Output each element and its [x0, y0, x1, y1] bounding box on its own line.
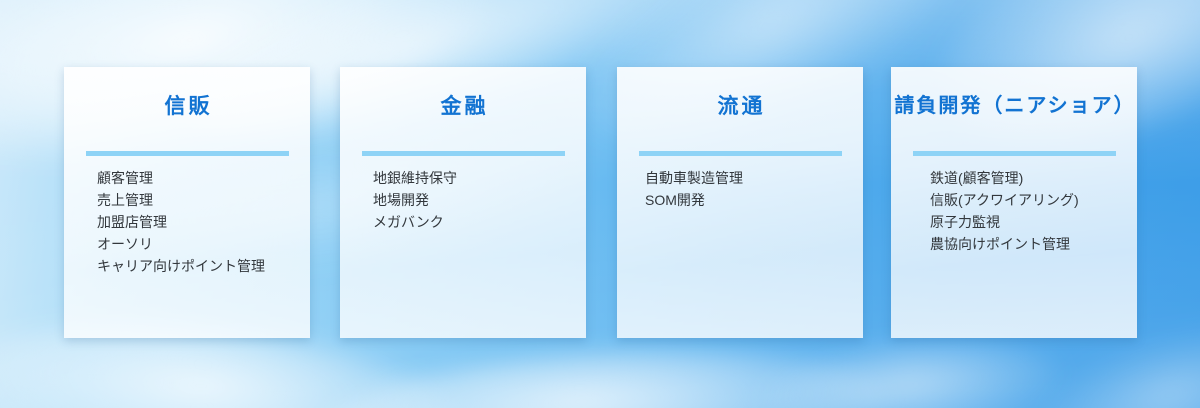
card-title: 金融	[340, 94, 586, 119]
domain-card-ukeoi-kaihatsu: 請負開発（ニアショア） 鉄道(顧客管理) 信販(アクワイアリング) 原子力監視 …	[891, 67, 1137, 338]
list-item: 原子力監視	[930, 211, 1137, 233]
list-item: キャリア向けポイント管理	[97, 255, 310, 277]
domain-card-shinpan: 信販 顧客管理 売上管理 加盟店管理 オーソリ キャリア向けポイント管理	[64, 67, 310, 338]
card-title: 信販	[64, 94, 310, 119]
list-item: 地場開発	[373, 189, 586, 211]
card-divider	[913, 151, 1116, 156]
card-grid: 信販 顧客管理 売上管理 加盟店管理 オーソリ キャリア向けポイント管理 金融 …	[0, 0, 1200, 408]
card-divider	[362, 151, 565, 156]
card-title: 流通	[617, 94, 863, 119]
business-domains-panel: 信販 顧客管理 売上管理 加盟店管理 オーソリ キャリア向けポイント管理 金融 …	[0, 0, 1200, 408]
list-item: 農協向けポイント管理	[930, 233, 1137, 255]
list-item: 加盟店管理	[97, 211, 310, 233]
card-item-list: 自動車製造管理 SOM開発	[617, 167, 863, 211]
list-item: 顧客管理	[97, 167, 310, 189]
list-item: SOM開発	[645, 189, 863, 211]
card-item-list: 鉄道(顧客管理) 信販(アクワイアリング) 原子力監視 農協向けポイント管理	[891, 167, 1137, 255]
card-divider	[639, 151, 842, 156]
list-item: 自動車製造管理	[645, 167, 863, 189]
card-title: 請負開発（ニアショア）	[891, 94, 1137, 118]
list-item: 鉄道(顧客管理)	[930, 167, 1137, 189]
card-divider	[86, 151, 289, 156]
domain-card-kinyu: 金融 地銀維持保守 地場開発 メガバンク	[340, 67, 586, 338]
list-item: 売上管理	[97, 189, 310, 211]
card-item-list: 顧客管理 売上管理 加盟店管理 オーソリ キャリア向けポイント管理	[64, 167, 310, 277]
list-item: 地銀維持保守	[373, 167, 586, 189]
list-item: メガバンク	[373, 211, 586, 233]
domain-card-ryutsu: 流通 自動車製造管理 SOM開発	[617, 67, 863, 338]
list-item: オーソリ	[97, 233, 310, 255]
list-item: 信販(アクワイアリング)	[930, 189, 1137, 211]
card-item-list: 地銀維持保守 地場開発 メガバンク	[340, 167, 586, 233]
